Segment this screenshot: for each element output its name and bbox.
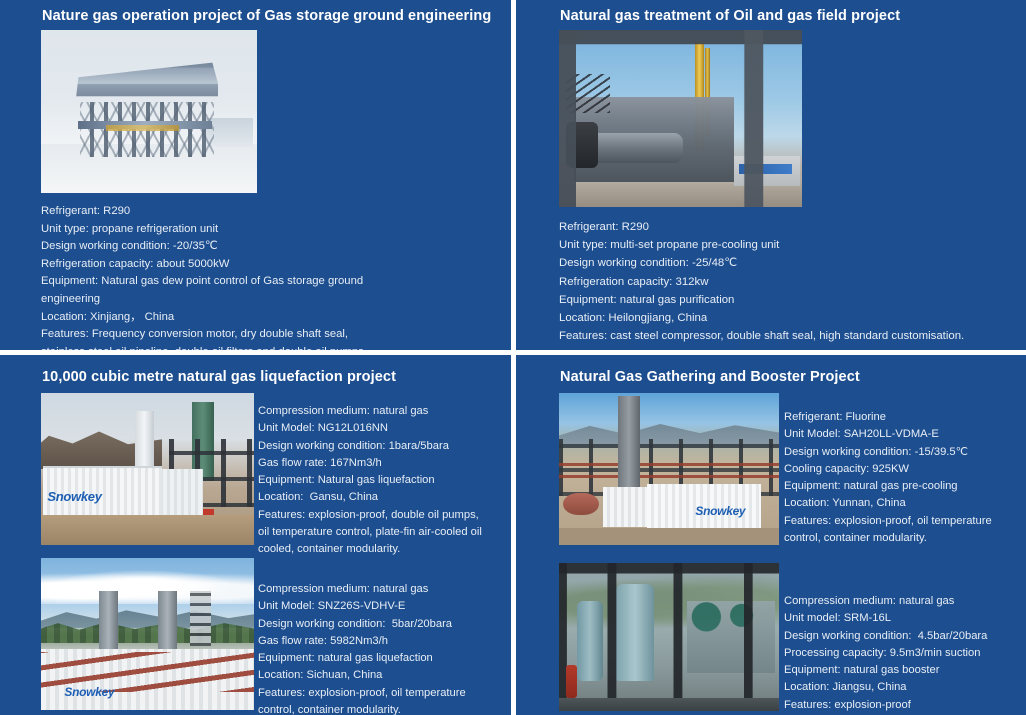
skid-base bbox=[559, 698, 779, 711]
spec-line: Unit type: multi-set propane pre-cooling… bbox=[559, 236, 979, 254]
spec-line: Design working condition: -20/35℃ bbox=[41, 238, 391, 256]
vertical-divider bbox=[511, 0, 516, 715]
spec-line: Processing capacity: 9.5m3/min suction bbox=[784, 645, 1019, 662]
spec-line: Unit type: propane refrigeration unit bbox=[41, 221, 391, 239]
steel-beams bbox=[559, 30, 802, 207]
process-column-1 bbox=[99, 591, 118, 649]
spec-list: Compression medium: natural gas Unit Mod… bbox=[258, 403, 488, 559]
spec-line: Refrigeration capacity: 312kw bbox=[559, 273, 979, 291]
spec-line: Location: Yunnan, China bbox=[784, 495, 1019, 512]
desert-container-liquefaction-plant-photo: Snowkey bbox=[41, 393, 254, 545]
spec-line: Compression medium: natural gas bbox=[258, 403, 488, 420]
spec-line: Unit Model: SNZ26S-VDHV-E bbox=[258, 598, 488, 615]
spec-line: Features: Frequency conversion motor, dr… bbox=[41, 326, 391, 353]
panel-title: Natural Gas Gathering and Booster Projec… bbox=[560, 369, 860, 386]
spec-list: Refrigerant: R290 Unit type: propane ref… bbox=[41, 203, 391, 353]
spec-line: Location: Heilongjiang, China bbox=[559, 309, 979, 327]
site-ground bbox=[559, 528, 779, 545]
jiangsu-gas-booster-skid-photo bbox=[559, 563, 779, 711]
spec-list: Refrigerant: Fluorine Unit Model: SAH20L… bbox=[784, 409, 1019, 547]
snowkey-logo: Snowkey bbox=[64, 685, 114, 699]
spec-line: Design working condition: 5bar/20bara bbox=[258, 616, 488, 633]
spec-line: Equipment: Natural gas dew point control… bbox=[41, 273, 391, 308]
spec-line: Equipment: natural gas booster bbox=[784, 662, 1019, 679]
black-steel-frame bbox=[559, 563, 779, 711]
spec-line: Location: Gansu, China bbox=[258, 489, 488, 506]
panel-title: 10,000 cubic metre natural gas liquefact… bbox=[42, 369, 396, 386]
spec-line: Refrigerant: R290 bbox=[41, 203, 391, 221]
spec-list: Compression medium: natural gas Unit mod… bbox=[784, 593, 1019, 714]
horizontal-divider bbox=[0, 350, 1026, 355]
process-column-3 bbox=[190, 591, 211, 646]
mountain-lng-site-photo: Snowkey bbox=[41, 558, 254, 710]
red-pipes bbox=[559, 457, 779, 478]
yellow-equipment bbox=[106, 125, 179, 132]
panel-title: Natural gas treatment of Oil and gas fie… bbox=[560, 8, 900, 25]
spec-line: Refrigerant: Fluorine bbox=[784, 409, 1019, 426]
spec-line: Features: explosion-proof, oil temperatu… bbox=[784, 513, 1019, 548]
spec-line: Equipment: natural gas liquefaction bbox=[258, 650, 488, 667]
spec-line: Gas flow rate: 167Nm3/h bbox=[258, 455, 488, 472]
spec-line: Cooling capacity: 925KW bbox=[784, 461, 1019, 478]
spec-list: Refrigerant: R290 Unit type: multi-set p… bbox=[559, 218, 979, 345]
spec-line: Unit model: SRM-16L bbox=[784, 610, 1019, 627]
spec-line: Compression medium: natural gas bbox=[258, 581, 488, 598]
spec-line: Unit Model: NG12L016NN bbox=[258, 420, 488, 437]
spec-line: Compression medium: natural gas bbox=[784, 593, 1019, 610]
project-cases-page: Nature gas operation project of Gas stor… bbox=[0, 0, 1026, 715]
process-column-2 bbox=[158, 591, 177, 649]
spec-line: Refrigeration capacity: about 5000kW bbox=[41, 256, 391, 274]
spec-line: Equipment: natural gas pre-cooling bbox=[784, 478, 1019, 495]
spec-line: Features: explosion-proof, double oil pu… bbox=[258, 507, 488, 559]
spec-line: Design working condition: -15/39.5℃ bbox=[784, 444, 1019, 461]
panel-natural-gas-liquefaction: 10,000 cubic metre natural gas liquefact… bbox=[0, 353, 513, 715]
yunnan-container-precooling-unit-photo: Snowkey bbox=[559, 393, 779, 545]
spec-line: Refrigerant: R290 bbox=[559, 218, 979, 236]
spec-line: Features: explosion-proof bbox=[784, 697, 1019, 714]
panel-gas-storage-ground-engineering: Nature gas operation project of Gas stor… bbox=[0, 0, 513, 353]
spec-line: Location: Jiangsu, China bbox=[784, 679, 1019, 696]
panel-oil-and-gas-field-treatment: Natural gas treatment of Oil and gas fie… bbox=[513, 0, 1026, 353]
spec-line: Design working condition: 1bara/5bara bbox=[258, 438, 488, 455]
spec-line: Features: explosion-proof, oil temperatu… bbox=[258, 685, 488, 715]
snowkey-logo: Snowkey bbox=[695, 504, 745, 518]
spec-line: Equipment: Natural gas liquefaction bbox=[258, 472, 488, 489]
spec-line: Design working condition: 4.5bar/20bara bbox=[784, 628, 1019, 645]
concrete-column bbox=[618, 396, 640, 490]
clouds bbox=[41, 570, 254, 603]
blue-sky-piping-skid-photo bbox=[559, 30, 802, 207]
spec-line: Features: cast steel compressor, double … bbox=[559, 327, 979, 345]
spec-line: Unit Model: SAH20LL-VDMA-E bbox=[784, 426, 1019, 443]
fire-extinguisher bbox=[566, 665, 577, 698]
spec-list: Compression medium: natural gas Unit Mod… bbox=[258, 581, 488, 715]
spec-line: Equipment: natural gas purification bbox=[559, 291, 979, 309]
sandy-ground bbox=[41, 515, 254, 545]
spec-line: Design working condition: -25/48℃ bbox=[559, 254, 979, 272]
panel-title: Nature gas operation project of Gas stor… bbox=[42, 8, 491, 25]
snowy-elevated-gas-plant-photo bbox=[41, 30, 257, 193]
spec-line: Gas flow rate: 5982Nm3/h bbox=[258, 633, 488, 650]
spec-line: Location: Xinjiang， China bbox=[41, 309, 391, 327]
snowkey-logo: Snowkey bbox=[47, 489, 101, 504]
red-tank bbox=[563, 493, 598, 514]
spec-line: Location: Sichuan, China bbox=[258, 667, 488, 684]
panel-gathering-and-booster: Natural Gas Gathering and Booster Projec… bbox=[513, 353, 1026, 715]
